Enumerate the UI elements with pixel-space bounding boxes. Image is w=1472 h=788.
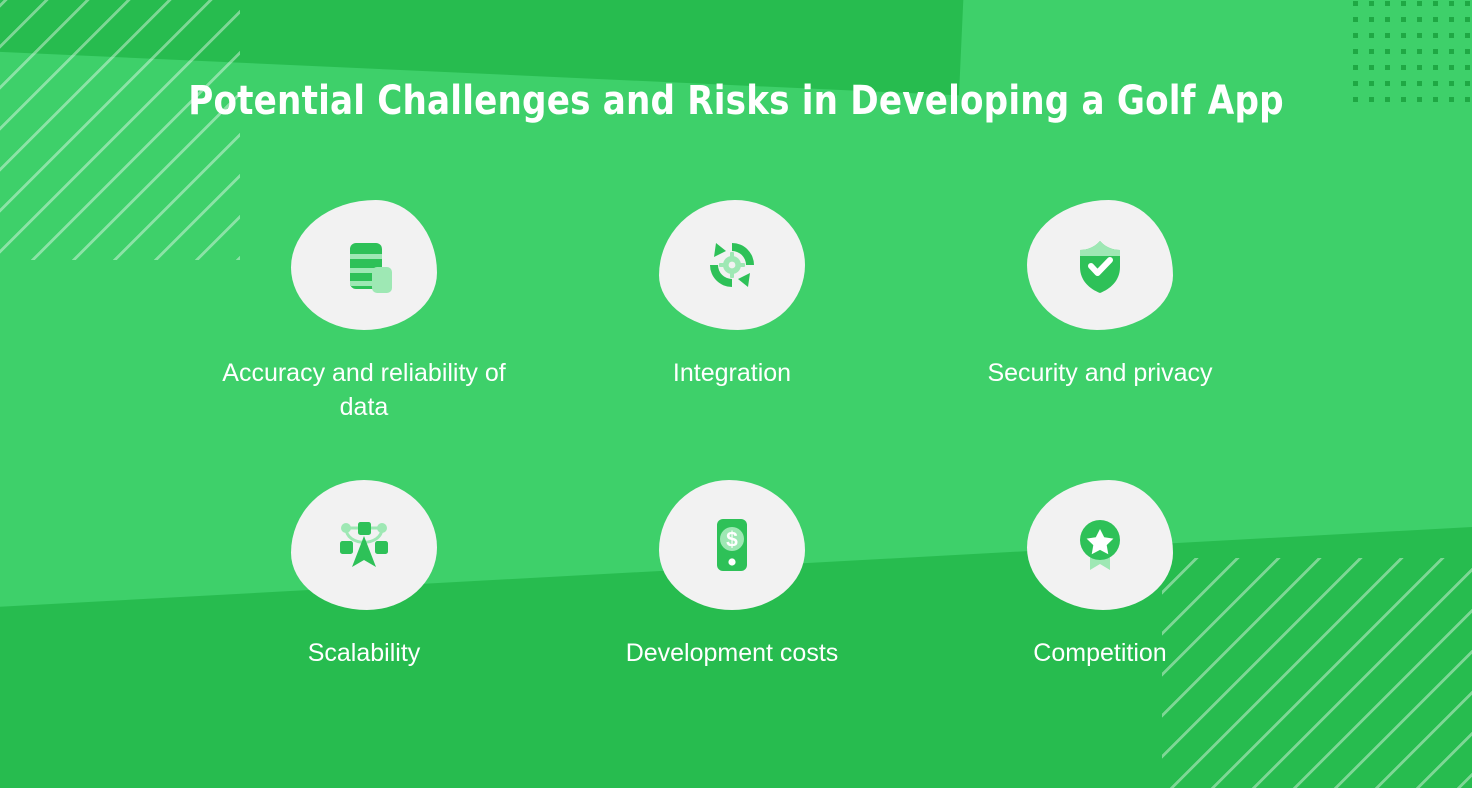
icon-blob — [1027, 480, 1173, 610]
item-label: Accuracy and reliability of data — [199, 356, 529, 424]
item-scalability[interactable]: Scalability — [180, 480, 548, 670]
icon-blob: $ — [659, 480, 805, 610]
award-star-icon — [1064, 509, 1136, 581]
item-development-costs[interactable]: $ Development costs — [548, 480, 916, 670]
svg-text:$: $ — [726, 529, 738, 552]
items-row-2: Scalability $ Development costs — [180, 480, 1292, 670]
item-label: Security and privacy — [987, 356, 1212, 390]
icon-blob — [1027, 200, 1173, 330]
item-label: Integration — [673, 356, 791, 390]
item-accuracy-and-reliability-of-data[interactable]: Accuracy and reliability of data — [180, 200, 548, 480]
item-label: Competition — [1033, 636, 1166, 670]
items-grid: Accuracy and reliability of data — [180, 200, 1292, 670]
database-stack-icon — [328, 229, 400, 301]
shield-check-icon — [1064, 229, 1136, 301]
page-title: Potential Challenges and Risks in Develo… — [37, 78, 1435, 124]
item-integration[interactable]: Integration — [548, 200, 916, 480]
phone-dollar-icon: $ — [696, 509, 768, 581]
item-competition[interactable]: Competition — [916, 480, 1284, 670]
vector-node-arrow-icon — [328, 509, 400, 581]
item-label: Scalability — [308, 636, 421, 670]
item-security-and-privacy[interactable]: Security and privacy — [916, 200, 1284, 480]
sync-gear-icon — [696, 229, 768, 301]
icon-blob — [291, 480, 437, 610]
icon-blob — [291, 200, 437, 330]
item-label: Development costs — [626, 636, 839, 670]
items-row-1: Accuracy and reliability of data — [180, 200, 1292, 480]
infographic-content: Potential Challenges and Risks in Develo… — [0, 0, 1472, 788]
icon-blob — [659, 200, 805, 330]
